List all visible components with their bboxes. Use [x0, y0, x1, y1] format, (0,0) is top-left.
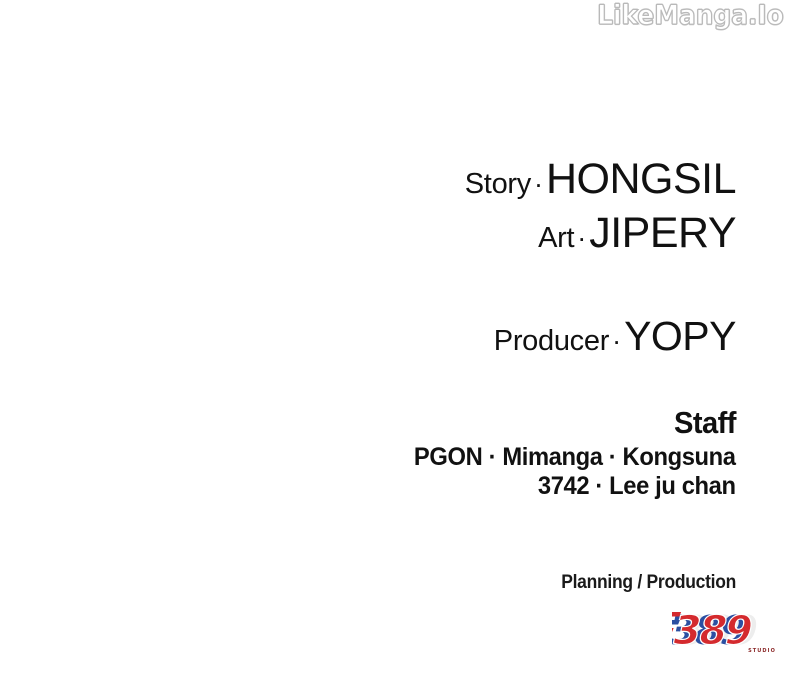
credit-separator: ·	[574, 223, 589, 253]
credit-line-art: Art·JIPERY	[538, 212, 736, 255]
credit-name-art: JIPERY	[589, 209, 736, 257]
logo-white-core: 389	[672, 606, 756, 653]
staff-row: 3742 · Lee ju chan	[414, 472, 736, 501]
credits-page: LikeManga.Io Story·HONGSIL Art·JIPERY Pr…	[0, 0, 800, 693]
credit-name-producer: YOPY	[624, 313, 736, 359]
credit-separator: ·	[531, 169, 546, 199]
credit-line-story: Story·HONGSIL	[465, 158, 736, 201]
logo-subtitle: STUDIO	[748, 648, 776, 654]
credit-name-story: HONGSIL	[546, 155, 736, 203]
staff-row: PGON · Mimanga · Kongsuna	[414, 443, 736, 472]
planning-production-label: Planning / Production	[561, 573, 736, 592]
credit-role-art: Art	[538, 222, 574, 254]
credit-role-story: Story	[465, 168, 531, 200]
credit-role-producer: Producer	[494, 325, 609, 357]
svg-text:389: 389	[672, 606, 756, 653]
site-watermark: LikeManga.Io	[597, 1, 784, 31]
credit-separator: ·	[609, 326, 624, 356]
studio-logo: 389 389 389 389 389	[672, 600, 782, 658]
credit-line-producer: Producer·YOPY	[494, 316, 736, 357]
staff-heading: Staff	[674, 407, 736, 438]
staff-name-list: PGON · Mimanga · Kongsuna 3742 · Lee ju …	[397, 443, 736, 501]
